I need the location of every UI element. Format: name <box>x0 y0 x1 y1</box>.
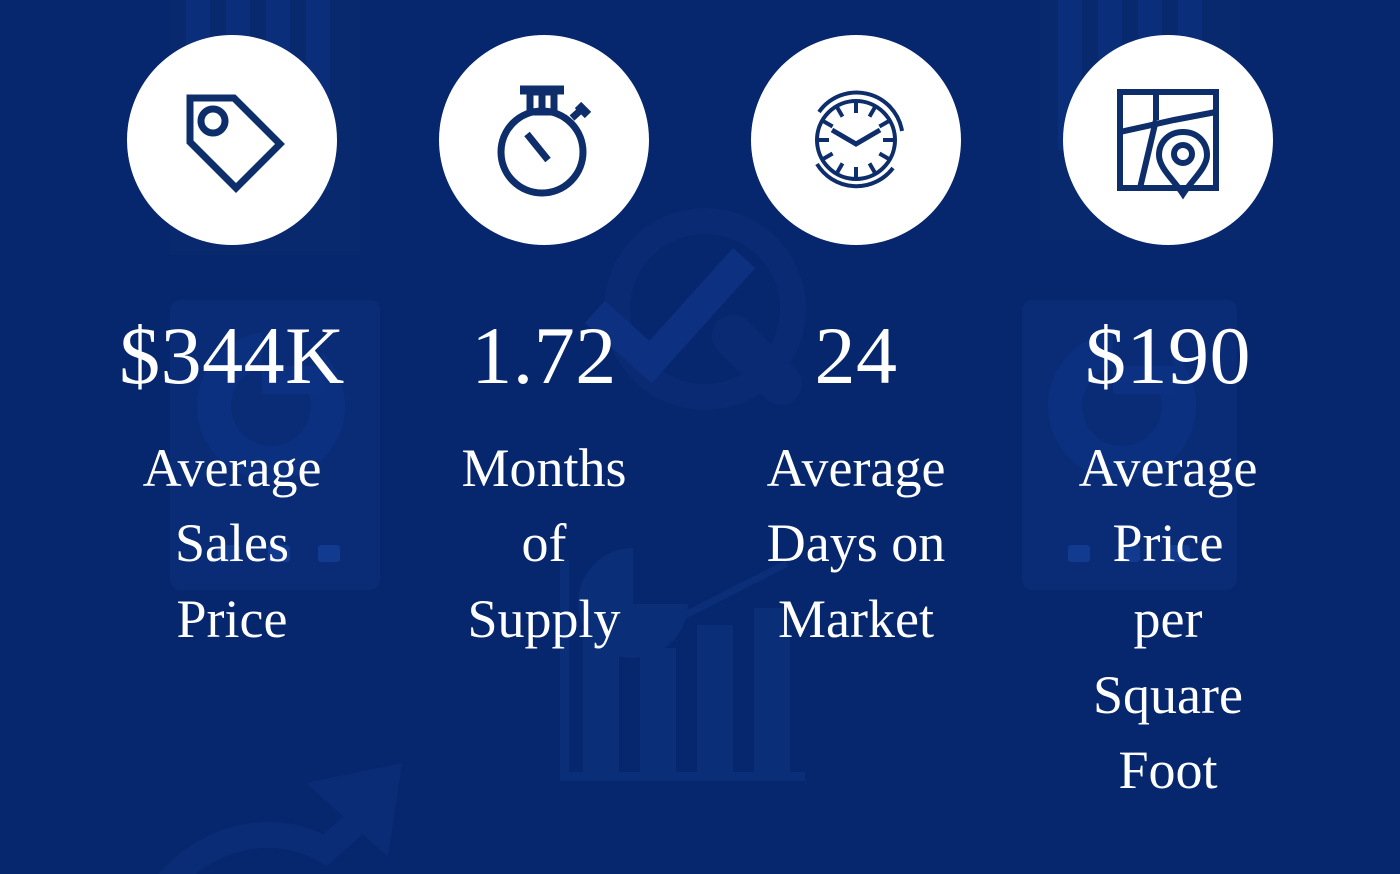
stat-label: Average Price per Square Foot <box>1079 431 1258 809</box>
stat-value: $344K <box>119 317 345 395</box>
stat-label: Average Sales Price <box>143 431 322 658</box>
stat-card-average-sales-price: $344K Average Sales Price <box>76 0 388 658</box>
stats-row: $344K Average Sales Price <box>0 0 1400 874</box>
stat-label-line: Days on <box>767 506 946 582</box>
stat-label-line: Foot <box>1079 733 1258 809</box>
stat-label-line: Supply <box>461 582 626 658</box>
real-estate-stats-infographic: $344K Average Sales Price <box>0 0 1400 874</box>
stat-label-line: Price <box>1079 506 1258 582</box>
stopwatch-icon-badge <box>439 35 649 245</box>
stat-card-average-price-per-square-foot: $190 Average Price per Square Foot <box>1012 0 1324 809</box>
stat-label-line: Average <box>767 431 946 507</box>
stat-label: Average Days on Market <box>767 431 946 658</box>
clock-icon-badge <box>751 35 961 245</box>
price-tag-icon <box>168 76 296 204</box>
stat-label: Months of Supply <box>461 431 626 658</box>
stat-label-line: Price <box>143 582 322 658</box>
stat-value: 1.72 <box>471 317 617 395</box>
stat-label-line: Square <box>1079 658 1258 734</box>
stat-card-months-of-supply: 1.72 Months of Supply <box>388 0 700 658</box>
stat-value: $190 <box>1085 317 1251 395</box>
stopwatch-icon <box>480 76 608 204</box>
stat-label-line: Months <box>461 431 626 507</box>
map-pin-icon <box>1104 76 1232 204</box>
stat-label-line: per <box>1079 582 1258 658</box>
map-pin-icon-badge <box>1063 35 1273 245</box>
stat-label-line: of <box>461 506 626 582</box>
stat-label-line: Average <box>1079 431 1258 507</box>
price-tag-icon-badge <box>127 35 337 245</box>
stat-label-line: Average <box>143 431 322 507</box>
stat-label-line: Market <box>767 582 946 658</box>
stat-label-line: Sales <box>143 506 322 582</box>
clock-icon <box>792 76 920 204</box>
stat-card-average-days-on-market: 24 Average Days on Market <box>700 0 1012 658</box>
stat-value: 24 <box>815 317 898 395</box>
